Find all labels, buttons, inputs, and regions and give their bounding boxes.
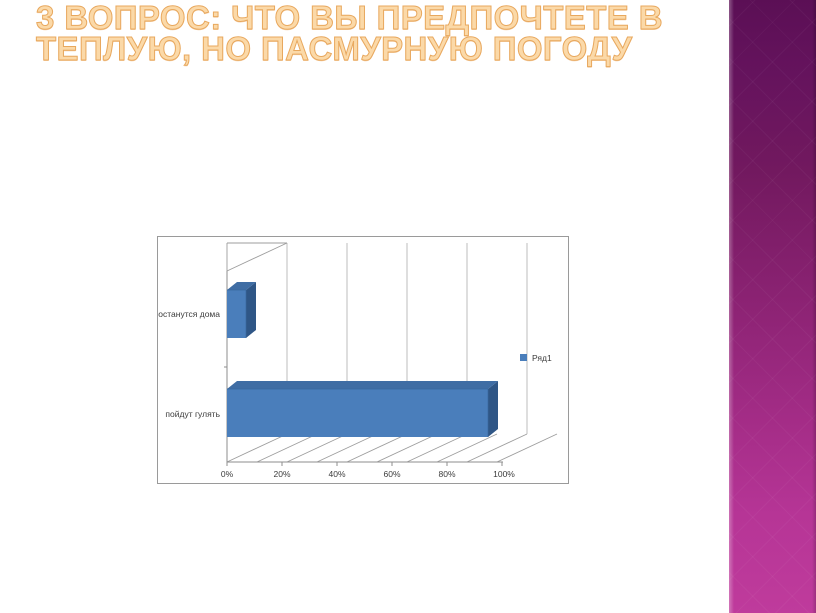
- x-tick-label-3: 60%: [383, 469, 400, 479]
- bar-ostanutsya-doma: [227, 282, 256, 338]
- x-tick-label-2: 40%: [328, 469, 345, 479]
- chart-container: останутся дома пойдут гулять 0% 20% 40% …: [157, 236, 569, 484]
- legend-label-0: Ряд1: [532, 353, 552, 363]
- chart-legend: Ряд1: [520, 353, 552, 363]
- category-label-0: останутся дома: [158, 309, 220, 319]
- x-tick-label-4: 80%: [438, 469, 455, 479]
- slide-canvas: 3 вопрос: что вы предпочтете в теплую, н…: [0, 0, 816, 613]
- x-tick-label-5: 100%: [493, 469, 515, 479]
- x-tick-label-1: 20%: [273, 469, 290, 479]
- band-left-highlight: [729, 0, 734, 613]
- decorative-purple-band: [729, 0, 816, 613]
- category-label-1: пойдут гулять: [165, 409, 220, 419]
- legend-marker-icon: [520, 354, 527, 361]
- chart-floor: [227, 434, 557, 466]
- band-right-shadow: [812, 0, 816, 613]
- bar-poydut-gulyat: [227, 381, 498, 437]
- band-diamond-pattern: [729, 0, 816, 613]
- page-title: 3 вопрос: что вы предпочтете в теплую, н…: [36, 2, 708, 64]
- bar-chart-3d: останутся дома пойдут гулять 0% 20% 40% …: [158, 237, 568, 483]
- x-tick-label-0: 0%: [221, 469, 234, 479]
